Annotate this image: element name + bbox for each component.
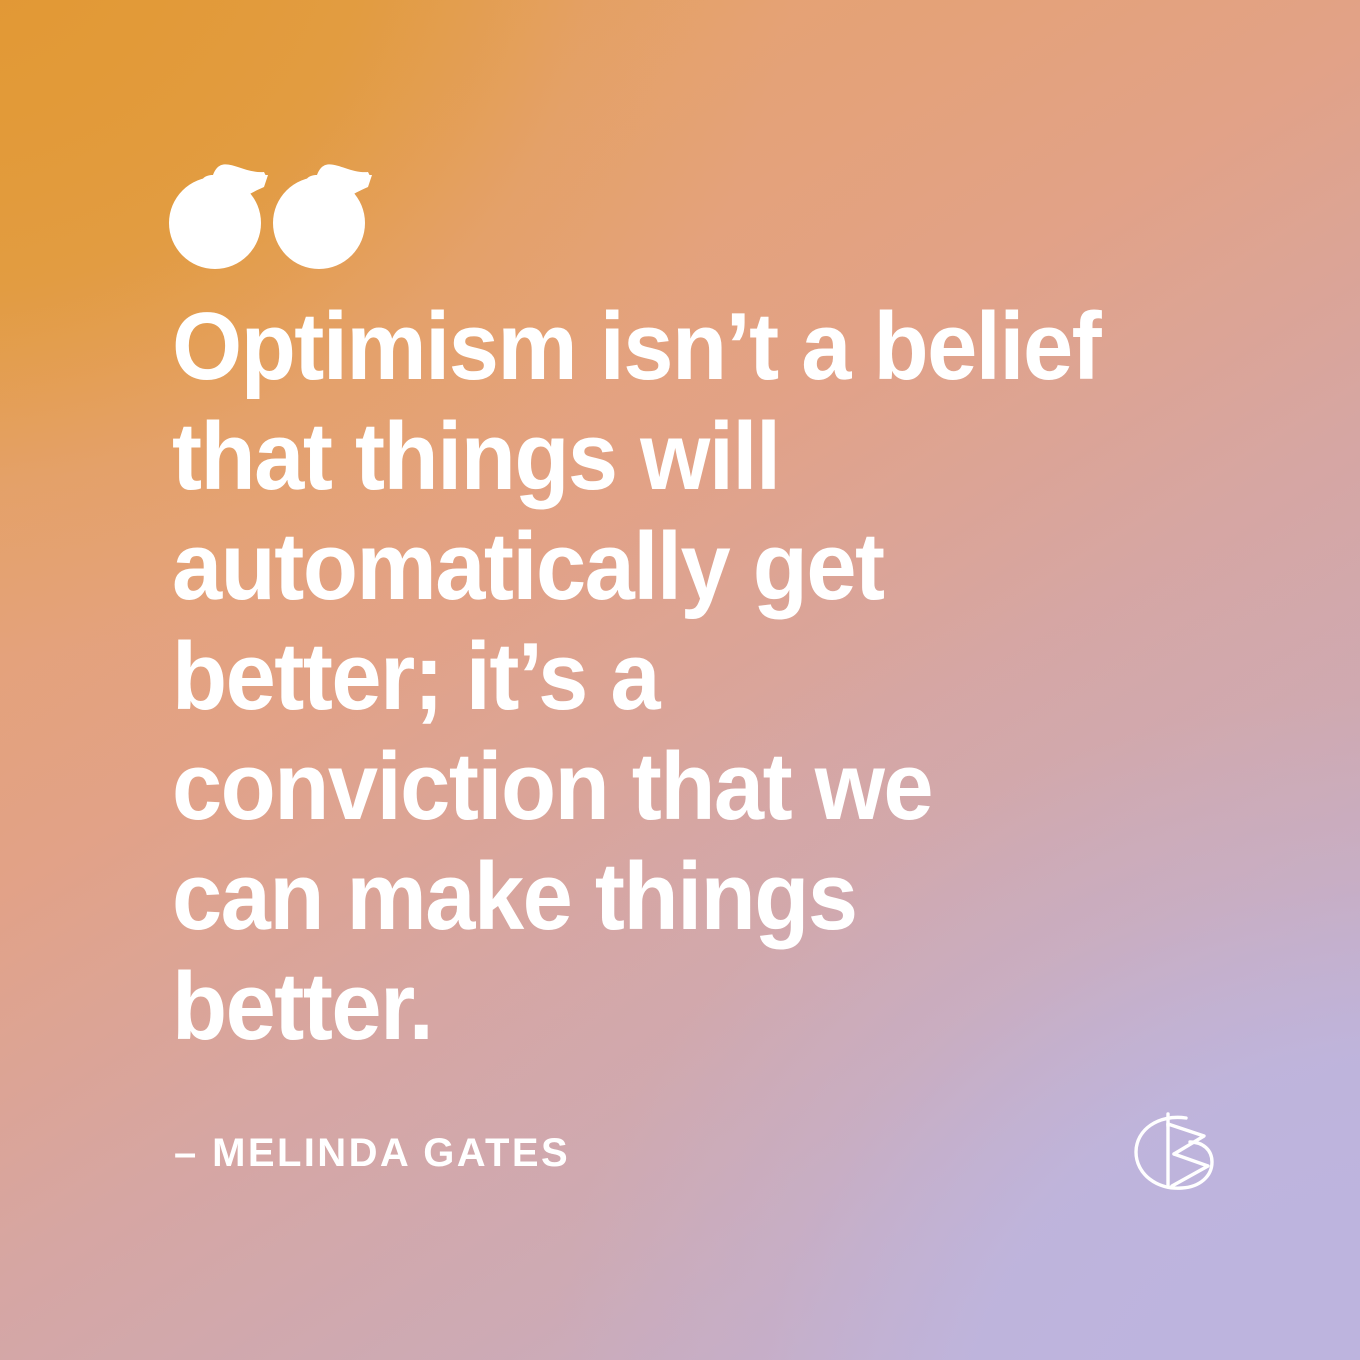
quote-attribution: – MELINDA GATES	[174, 1131, 570, 1176]
quote-line: automatically get	[172, 512, 1121, 622]
quote-line: better.	[172, 952, 1121, 1062]
quote-line: that things will	[172, 402, 1121, 512]
quote-line: Optimism isn’t a belief	[172, 292, 1121, 402]
quote-line: conviction that we	[172, 732, 1121, 842]
quote-line: can make things	[172, 842, 1121, 952]
quote-card: Optimism isn’t a belief that things will…	[0, 0, 1360, 1360]
quote-text: Optimism isn’t a belief that things will…	[172, 292, 1182, 1062]
opening-quote-mark-icon	[168, 92, 368, 282]
quote-line: better; it’s a	[172, 622, 1121, 732]
cb-monogram-logo-icon	[1124, 1102, 1228, 1202]
